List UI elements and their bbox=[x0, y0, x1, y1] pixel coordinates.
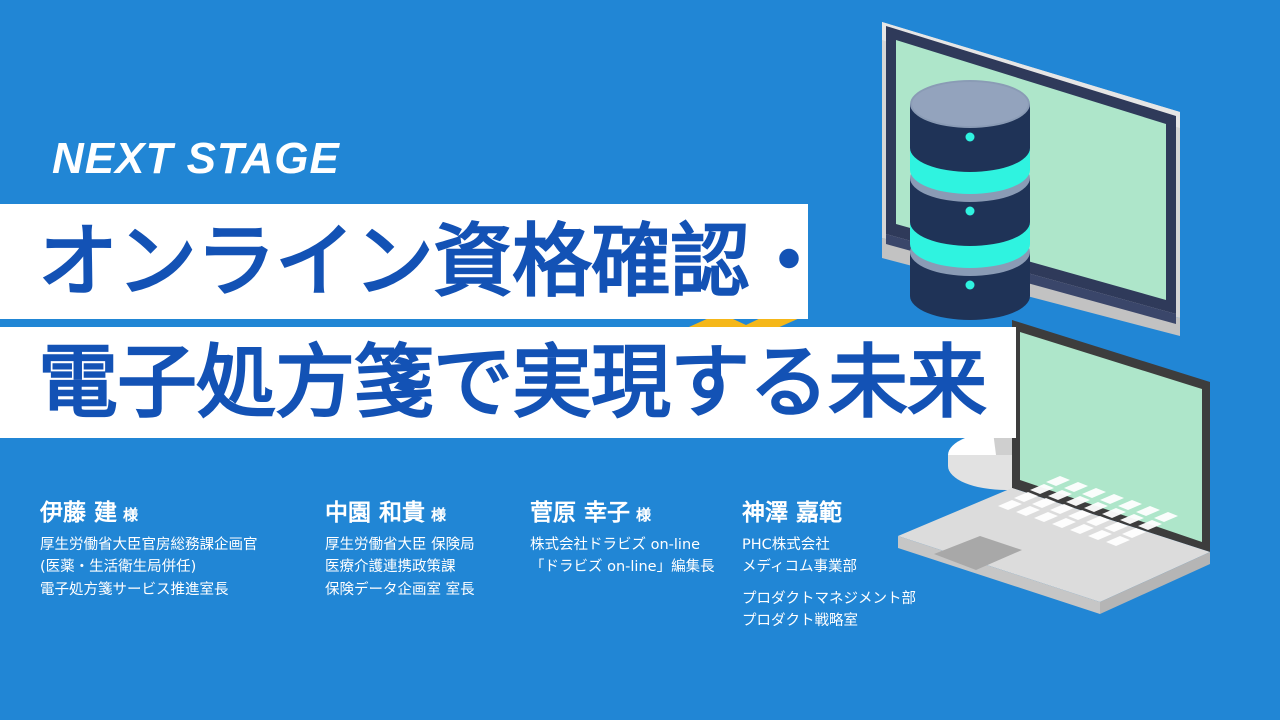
speaker-card: 伊藤 建様 厚生労働省大臣官房総務課企画官 (医薬・生活衛生局併任) 電子処方箋… bbox=[40, 500, 320, 601]
headline-bar-primary: オンライン資格確認・ bbox=[0, 204, 808, 319]
headline-bar-secondary: 電子処方箋で実現する未来 bbox=[0, 327, 1016, 438]
speaker-card: 中園 和貴様 厚生労働省大臣 保険局 医療介護連携政策課 保険データ企画室 室長 bbox=[325, 500, 525, 601]
speaker-name-text: 伊藤 建 bbox=[40, 500, 117, 526]
speaker-title-line: (医薬・生活衛生局併任) bbox=[40, 556, 320, 578]
speaker-name-text: 神澤 嘉範 bbox=[742, 500, 842, 526]
speaker-title-line: 株式会社ドラビズ on-line bbox=[530, 534, 740, 556]
speaker-title-line: 保険データ企画室 室長 bbox=[325, 579, 525, 601]
speaker-honorific bbox=[842, 506, 848, 524]
speaker-extra-line: プロダクト戦略室 bbox=[742, 610, 972, 632]
speaker-name: 神澤 嘉範 bbox=[742, 500, 972, 528]
speaker-honorific: 様 bbox=[630, 506, 651, 524]
speaker-name: 伊藤 建様 bbox=[40, 500, 320, 528]
speaker-title-line: 「ドラビズ on-line」編集長 bbox=[530, 556, 740, 578]
speaker-list: 伊藤 建様 厚生労働省大臣官房総務課企画官 (医薬・生活衛生局併任) 電子処方箋… bbox=[0, 500, 980, 670]
speaker-title-line: 厚生労働省大臣 保険局 bbox=[325, 534, 525, 556]
speaker-name: 菅原 幸子様 bbox=[530, 500, 740, 528]
speaker-title-line: 電子処方箋サービス推進室長 bbox=[40, 579, 320, 601]
headline-line-2: 電子処方箋で実現する未来 bbox=[0, 343, 986, 423]
database-server-icon bbox=[910, 80, 1030, 320]
speaker-title-line: メディコム事業部 bbox=[742, 556, 972, 578]
eyebrow-label: NEXT STAGE bbox=[52, 134, 340, 184]
speaker-title-line: PHC株式会社 bbox=[742, 534, 972, 556]
speaker-title-line: 医療介護連携政策課 bbox=[325, 556, 525, 578]
promo-banner-canvas: NEXT STAGE オンライン資格確認・ 電子処方箋で実現する未来 伊藤 建様… bbox=[0, 0, 1280, 720]
speaker-name-text: 中園 和貴 bbox=[325, 500, 425, 526]
speaker-name: 中園 和貴様 bbox=[325, 500, 525, 528]
speaker-title-line: 厚生労働省大臣官房総務課企画官 bbox=[40, 534, 320, 556]
speaker-honorific: 様 bbox=[425, 506, 446, 524]
speaker-card: 菅原 幸子様 株式会社ドラビズ on-line 「ドラビズ on-line」編集… bbox=[530, 500, 740, 579]
headline-line-1: オンライン資格確認・ bbox=[0, 222, 808, 302]
speaker-card: 神澤 嘉範 PHC株式会社 メディコム事業部 プロダクトマネジメント部 プロダク… bbox=[742, 500, 972, 632]
speaker-extra-line: プロダクトマネジメント部 bbox=[742, 588, 972, 610]
speaker-name-text: 菅原 幸子 bbox=[530, 500, 630, 526]
speaker-honorific: 様 bbox=[117, 506, 138, 524]
